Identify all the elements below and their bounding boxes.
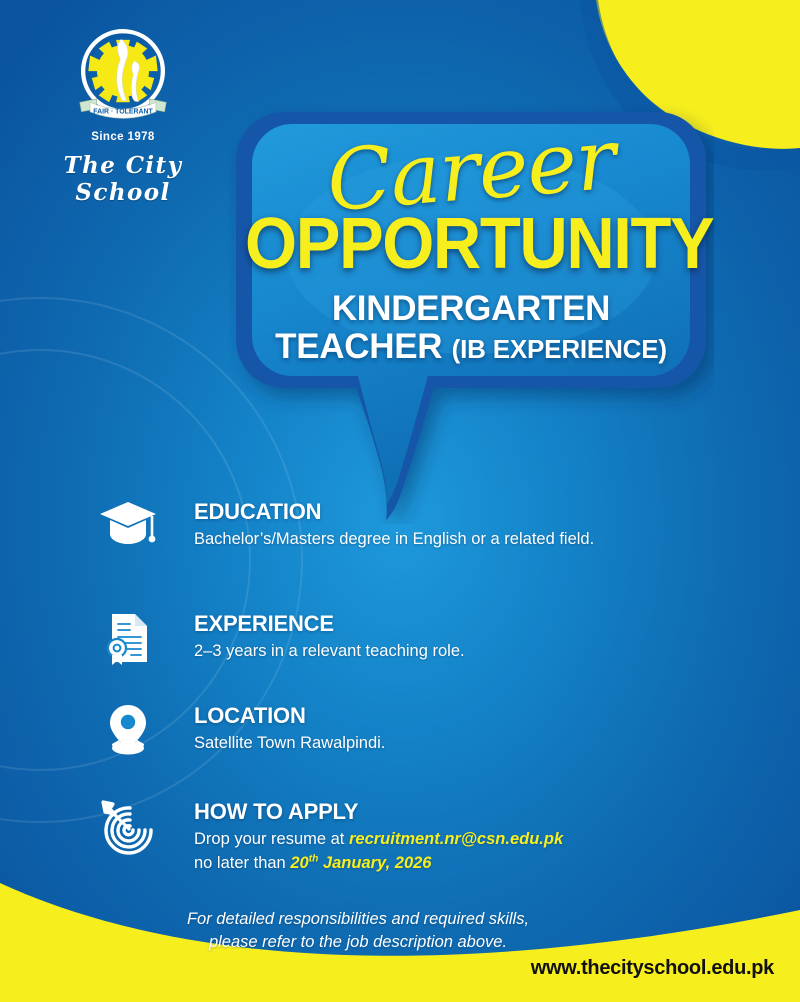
recruitment-email[interactable]: recruitment.nr@csn.edu.pk [349,830,563,848]
info-heading: EXPERIENCE [194,612,465,636]
deadline-prefix-text: no later than [194,854,290,872]
footer-note-line2: please refer to the job description abov… [209,933,507,951]
apply-instruction-text: Drop your resume at [194,830,349,848]
deadline-day: 20 [290,854,308,872]
info-heading: LOCATION [194,704,385,728]
info-row-education: EDUCATION Bachelor’s/Masters degree in E… [96,498,594,552]
brand-since-label: Since 1978 [18,131,228,143]
info-description: 2–3 years in a relevant teaching role. [194,640,465,663]
certificate-document-icon [96,610,160,666]
website-url[interactable]: www.thecityschool.edu.pk [531,957,774,980]
info-description-text: 2–3 years in a relevant teaching role. [194,642,465,660]
info-description: Drop your resume at recruitment.nr@csn.e… [194,828,563,875]
footer-note: For detailed responsibilities and requir… [148,908,568,955]
target-bullseye-icon [96,798,160,856]
deadline-ordinal: th [309,853,319,864]
info-heading: HOW TO APPLY [194,800,563,824]
info-row-how-to-apply: HOW TO APPLY Drop your resume at recruit… [96,798,563,875]
info-heading: EDUCATION [194,500,594,524]
info-row-location: LOCATION Satellite Town Rawalpindi. [96,702,385,756]
brand-logo-block: FAIR · TOLERANT Since 1978 The City Scho… [18,26,228,206]
hero-speech-bubble: Career OPPORTUNITY KINDERGARTEN TEACHER … [228,104,714,524]
info-description: Bachelor’s/Masters degree in English or … [194,528,594,551]
deadline-month-year: January, 2026 [318,854,431,872]
footer-note-line1: For detailed responsibilities and requir… [187,910,529,928]
brand-wordmark: The City School [18,152,228,206]
career-opportunity-poster: FAIR · TOLERANT Since 1978 The City Scho… [0,0,800,1002]
info-description-text: Satellite Town Rawalpindi. [194,734,385,752]
deadline-date: 20th January, 2026 [290,854,431,872]
city-school-crest-icon: FAIR · TOLERANT [71,26,175,130]
info-description-text: Bachelor’s/Masters degree in English or … [194,530,594,548]
info-description: Satellite Town Rawalpindi. [194,732,385,755]
crest-ribbon-motto: FAIR · TOLERANT [93,109,153,116]
info-row-experience: EXPERIENCE 2–3 years in a relevant teach… [96,610,465,666]
graduation-cap-icon [96,498,160,546]
location-pin-icon [96,702,160,756]
